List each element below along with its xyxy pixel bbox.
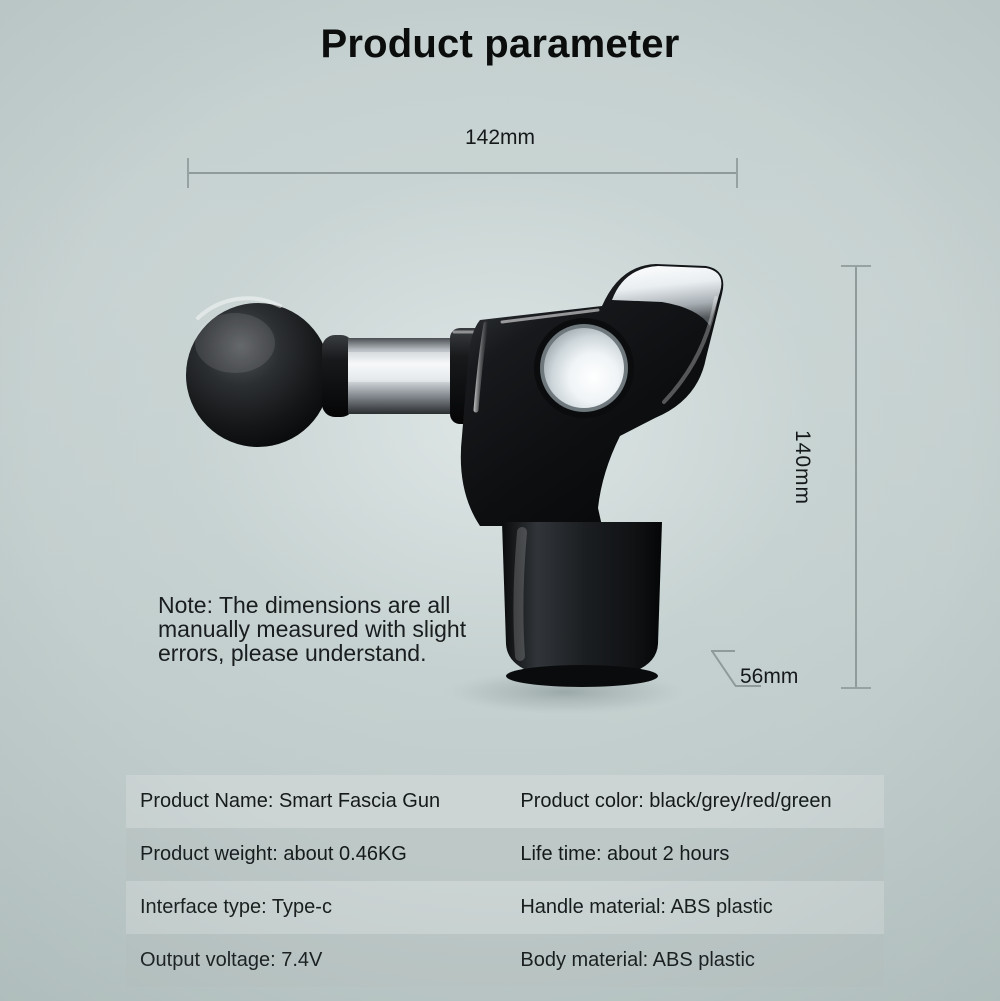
spec-cell: Product color: black/grey/red/green <box>506 775 884 828</box>
depth-dimension-cap-top <box>711 650 735 652</box>
spec-cell: Output voltage: 7.4V <box>126 934 506 987</box>
spec-cell: Body material: ABS plastic <box>506 934 884 987</box>
spec-cell: Product weight: about 0.46KG <box>126 828 506 881</box>
measurement-note-line-1: Note: The dimensions are all <box>158 594 528 618</box>
width-dimension-line <box>187 172 737 174</box>
measurement-note-line-2: manually measured with slight <box>158 618 528 642</box>
specification-table: Product Name: Smart Fascia Gun Product c… <box>126 775 884 987</box>
measurement-note: Note: The dimensions are all manually me… <box>158 594 528 666</box>
spec-cell: Interface type: Type-c <box>126 881 506 934</box>
height-dimension-cap-top <box>841 265 871 267</box>
width-dimension-cap-right <box>736 158 738 188</box>
table-row: Output voltage: 7.4V Body material: ABS … <box>126 934 884 987</box>
height-dimension-line <box>855 265 857 688</box>
table-row: Product weight: about 0.46KG Life time: … <box>126 828 884 881</box>
width-dimension-label: 142mm <box>0 126 1000 150</box>
measurement-note-line-3: errors, please understand. <box>158 642 528 666</box>
spec-cell: Handle material: ABS plastic <box>506 881 884 934</box>
table-row: Interface type: Type-c Handle material: … <box>126 881 884 934</box>
spec-cell: Product Name: Smart Fascia Gun <box>126 775 506 828</box>
spec-cell: Life time: about 2 hours <box>506 828 884 881</box>
table-row: Product Name: Smart Fascia Gun Product c… <box>126 775 884 828</box>
page-title: Product parameter <box>0 22 1000 67</box>
depth-dimension-label: 56mm <box>740 665 798 689</box>
height-dimension-cap-bottom <box>841 687 871 689</box>
height-dimension-label: 140mm <box>790 430 814 505</box>
width-dimension-cap-left <box>187 158 189 188</box>
